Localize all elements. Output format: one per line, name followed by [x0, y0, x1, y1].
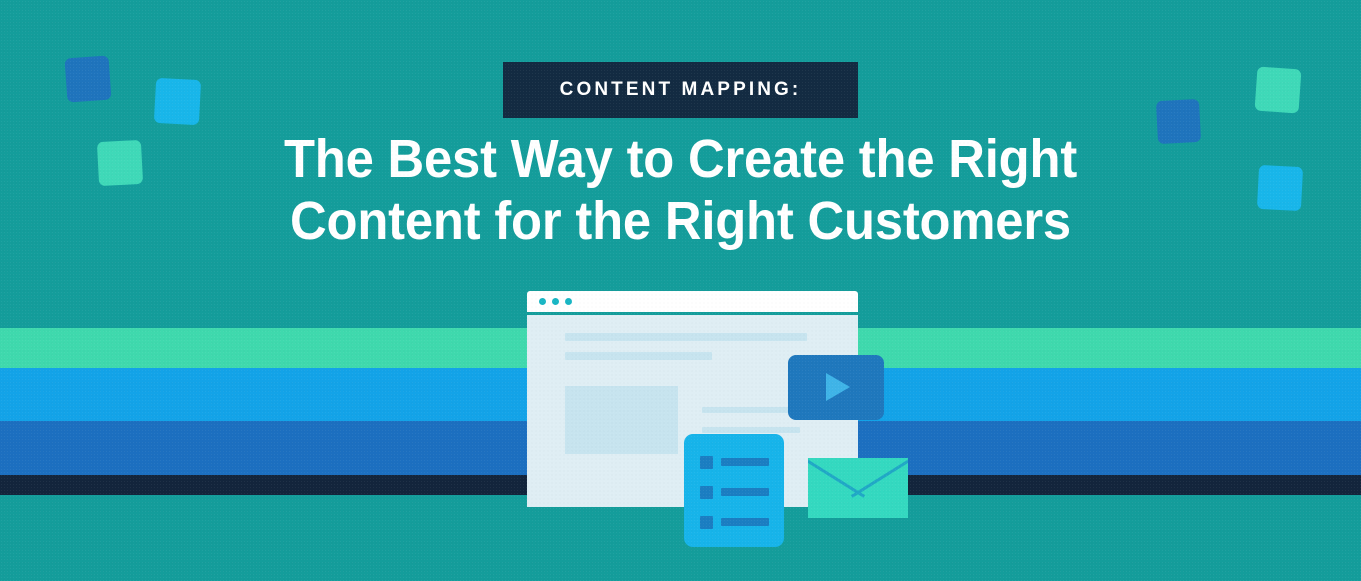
envelope-flap-right	[851, 458, 908, 518]
decor-square-left-blue	[65, 56, 112, 103]
browser-titlebar	[527, 291, 858, 312]
envelope-flap-left	[808, 458, 865, 518]
video-play-card	[788, 355, 884, 420]
eyebrow-label: CONTENT MAPPING:	[560, 79, 802, 101]
content-body-line-1	[702, 407, 800, 413]
content-image-placeholder	[565, 386, 678, 454]
email-envelope-icon	[808, 458, 908, 518]
content-heading-line-2	[565, 352, 712, 360]
content-body-line-2	[702, 427, 800, 433]
eyebrow-banner: CONTENT MAPPING:	[503, 62, 858, 118]
checkbox-icon-1	[700, 456, 713, 469]
content-mapping-hero-banner: CONTENT MAPPING: The Best Way to Create …	[0, 0, 1361, 581]
window-dot-3	[565, 298, 572, 305]
headline-line-2: Content for the Right Customers	[41, 190, 1320, 252]
content-heading-line-1	[565, 333, 807, 341]
headline-line-1: The Best Way to Create the Right	[41, 128, 1320, 190]
checkbox-icon-2	[700, 486, 713, 499]
window-dot-1	[539, 298, 546, 305]
checklist-card	[684, 434, 784, 547]
page-title: The Best Way to Create the Right Content…	[0, 128, 1361, 252]
play-icon	[826, 373, 850, 401]
window-dot-2	[552, 298, 559, 305]
checklist-bar-3	[721, 518, 769, 526]
checklist-bar-1	[721, 458, 769, 466]
checklist-bar-2	[721, 488, 769, 496]
decor-square-left-cyan	[154, 78, 201, 125]
decor-square-right-mint	[1255, 67, 1302, 114]
checkbox-icon-3	[700, 516, 713, 529]
